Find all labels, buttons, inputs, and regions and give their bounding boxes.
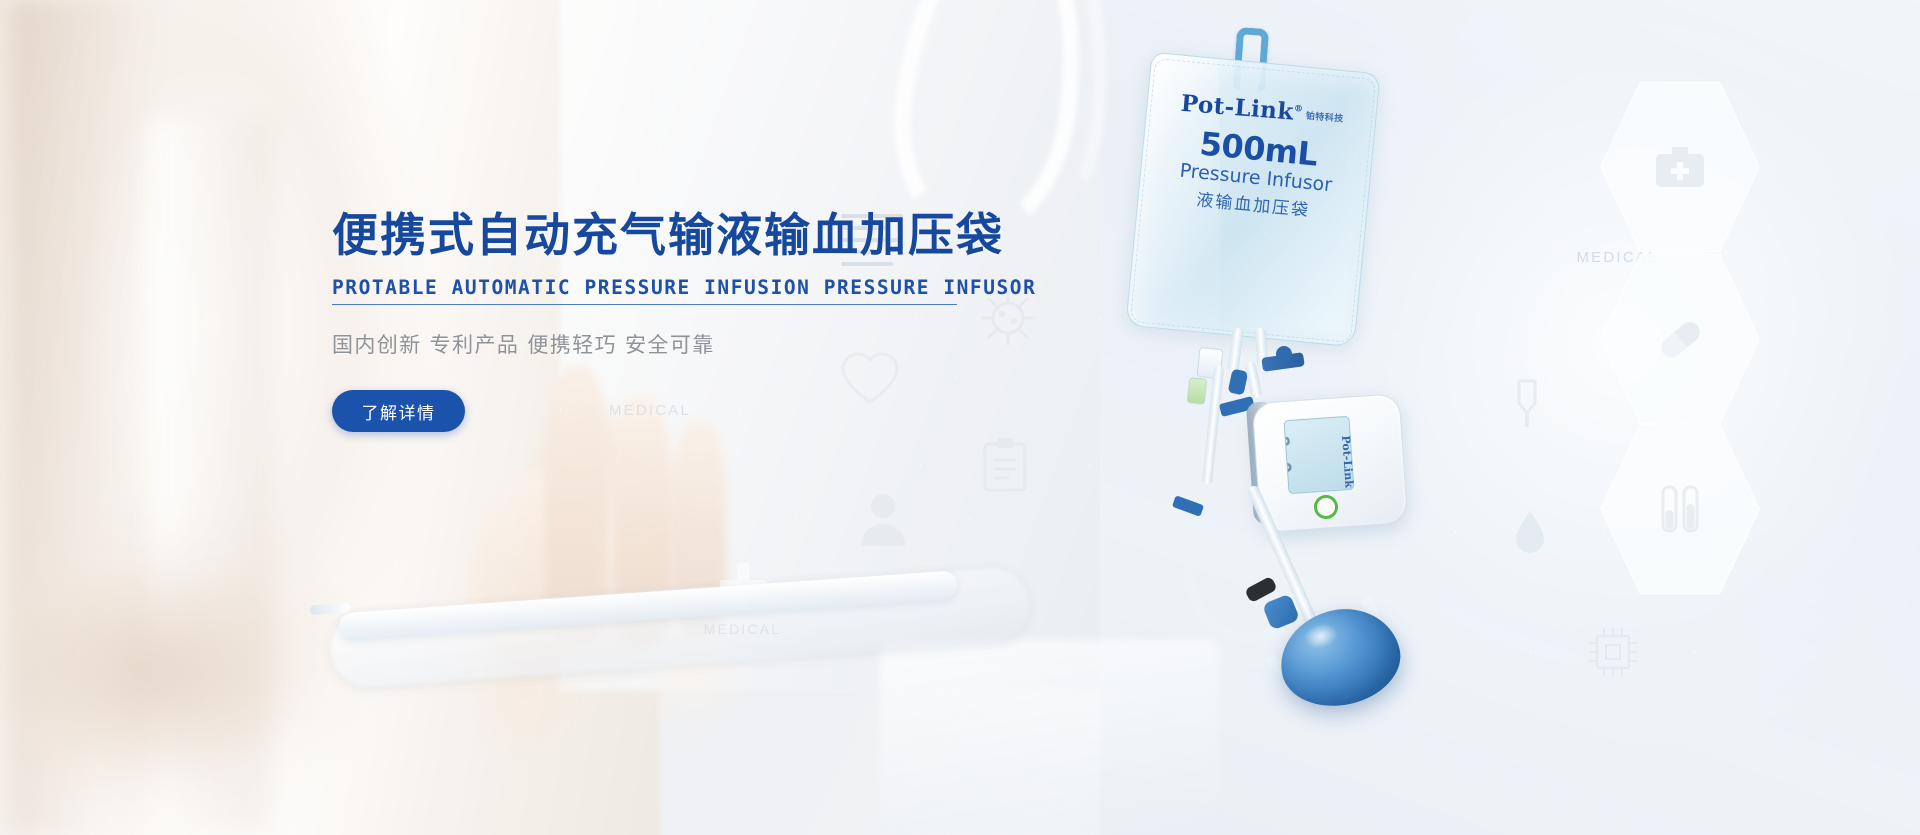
hero-banner: MEDICAL (0, 0, 1920, 835)
stopcock-knob (1276, 346, 1292, 362)
syringe-tip (310, 603, 351, 616)
bag-seam (1130, 58, 1376, 343)
green-cap-connector (1187, 377, 1208, 405)
doctor-icon (855, 488, 911, 548)
coat-fold-highlight (150, 120, 270, 835)
thumb-shape (470, 470, 600, 670)
hero-copy: 便携式自动充气输液输血加压袋 PROTABLE AUTOMATIC PRESSU… (332, 207, 1032, 432)
syringe-body (338, 570, 958, 641)
page-subtitle: PROTABLE AUTOMATIC PRESSURE INFUSION PRE… (332, 276, 957, 299)
page-title: 便携式自动充气输液输血加压袋 (332, 207, 1032, 263)
tube-clamp (1172, 495, 1204, 517)
product-assembly: Pot-Link®铂特科技 500mL Pressure Infusor 液输血… (1080, 10, 1920, 835)
learn-more-button[interactable]: 了解详情 (332, 390, 465, 432)
subtitle-rule: PROTABLE AUTOMATIC PRESSURE INFUSION PRE… (332, 276, 957, 305)
clipboard-icon (981, 436, 1029, 494)
tube-clamp (1228, 369, 1249, 396)
coat-fold-shadow (10, 0, 160, 835)
page-tagline: 国内创新 专利产品 便携轻巧 安全可靠 (332, 329, 1032, 359)
hexagon-label: MEDICAL (704, 621, 782, 637)
